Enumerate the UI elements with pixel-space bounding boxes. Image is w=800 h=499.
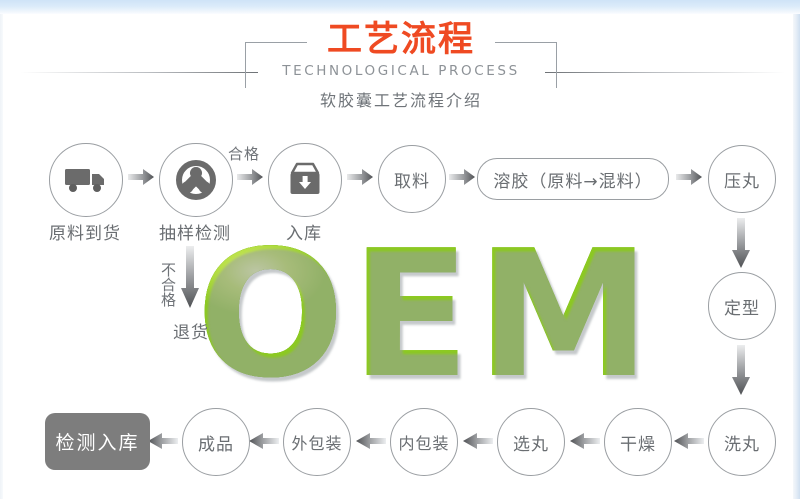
- page-title: 工艺流程: [245, 20, 557, 60]
- node-shaping[interactable]: 定型: [708, 272, 776, 340]
- arrow-down-2: [731, 345, 751, 395]
- node-inner-packaging[interactable]: 内包装: [390, 408, 458, 476]
- node-label-finished-product: 成品: [198, 430, 234, 455]
- node-gel-dissolving[interactable]: 溶胶（原料→混料）: [477, 158, 669, 200]
- page-subtitle-text: 软胶囊工艺流程介绍: [312, 91, 490, 110]
- arrow-left-6: [148, 432, 178, 450]
- arrow-left-4: [356, 432, 386, 450]
- node-finished-product[interactable]: 成品: [182, 408, 250, 476]
- process-flow-infographic: 工艺流程 TECHNOLOGICAL PROCESS 软胶囊工艺流程介绍 OEM…: [0, 0, 800, 499]
- arrow-right-1: [128, 168, 154, 186]
- node-pill-selecting[interactable]: 选丸: [497, 408, 565, 476]
- node-pill-washing[interactable]: 洗丸: [708, 408, 776, 476]
- node-return-goods: 退货: [161, 318, 221, 343]
- node-outer-packaging[interactable]: 外包装: [283, 408, 351, 476]
- node-label-outer-packaging: 外包装: [291, 430, 342, 454]
- node-pill-pressing[interactable]: 压丸: [708, 145, 776, 213]
- node-material-picking[interactable]: 取料: [378, 145, 446, 213]
- node-label-warehouse-in: 入库: [252, 219, 356, 244]
- truck-icon: [50, 144, 122, 216]
- node-label-shaping: 定型: [724, 294, 760, 319]
- node-label-pill-washing: 洗丸: [724, 430, 760, 455]
- inbox-arrow-down-icon: [269, 144, 341, 216]
- arrow-left-5: [249, 432, 279, 450]
- page-title-english: TECHNOLOGICAL PROCESS: [245, 62, 557, 80]
- node-label-gel-dissolving: 溶胶（原料→混料）: [493, 167, 652, 192]
- node-label-pill-pressing: 压丸: [724, 167, 760, 192]
- node-inspect-and-store[interactable]: 检测入库: [45, 413, 150, 470]
- node-label-material-picking: 取料: [394, 167, 430, 192]
- header-rule-right: [545, 72, 785, 73]
- node-label-pill-selecting: 选丸: [513, 430, 549, 455]
- node-sampling-inspection[interactable]: [159, 143, 233, 217]
- arrow-left-1: [674, 432, 704, 450]
- arrow-left-2: [570, 432, 600, 450]
- arrow-right-5: [676, 168, 702, 186]
- node-drying[interactable]: 干燥: [604, 408, 672, 476]
- header: 工艺流程 TECHNOLOGICAL PROCESS 软胶囊工艺流程介绍: [245, 24, 557, 110]
- arrow-right-3: [347, 168, 373, 186]
- arrow-left-3: [463, 432, 493, 450]
- node-label-drying: 干燥: [620, 430, 656, 455]
- right-edge-strip: [793, 14, 800, 499]
- header-rule-left: [20, 72, 258, 73]
- arrow-down-1: [731, 218, 751, 268]
- arrow-right-2: [237, 168, 263, 186]
- node-raw-material-arrival[interactable]: [49, 143, 123, 217]
- node-warehouse-in[interactable]: [268, 143, 342, 217]
- arrow-right-4: [449, 168, 475, 186]
- page-subtitle: 软胶囊工艺流程介绍: [245, 88, 557, 114]
- arrow-down-fail: [180, 246, 200, 308]
- left-edge-strip: [0, 14, 3, 499]
- top-decorative-band: [0, 0, 800, 14]
- oem-watermark: OEM: [196, 236, 696, 396]
- edge-label-fail: 不合格: [158, 262, 179, 307]
- node-label-inner-packaging: 内包装: [398, 430, 449, 454]
- edge-label-pass: 合格: [228, 143, 260, 164]
- inspection-icon: [160, 144, 232, 216]
- node-label-inspect-and-store: 检测入库: [55, 428, 139, 455]
- node-label-raw-material-arrival: 原料到货: [33, 219, 137, 244]
- node-label-sampling-inspection: 抽样检测: [143, 219, 247, 244]
